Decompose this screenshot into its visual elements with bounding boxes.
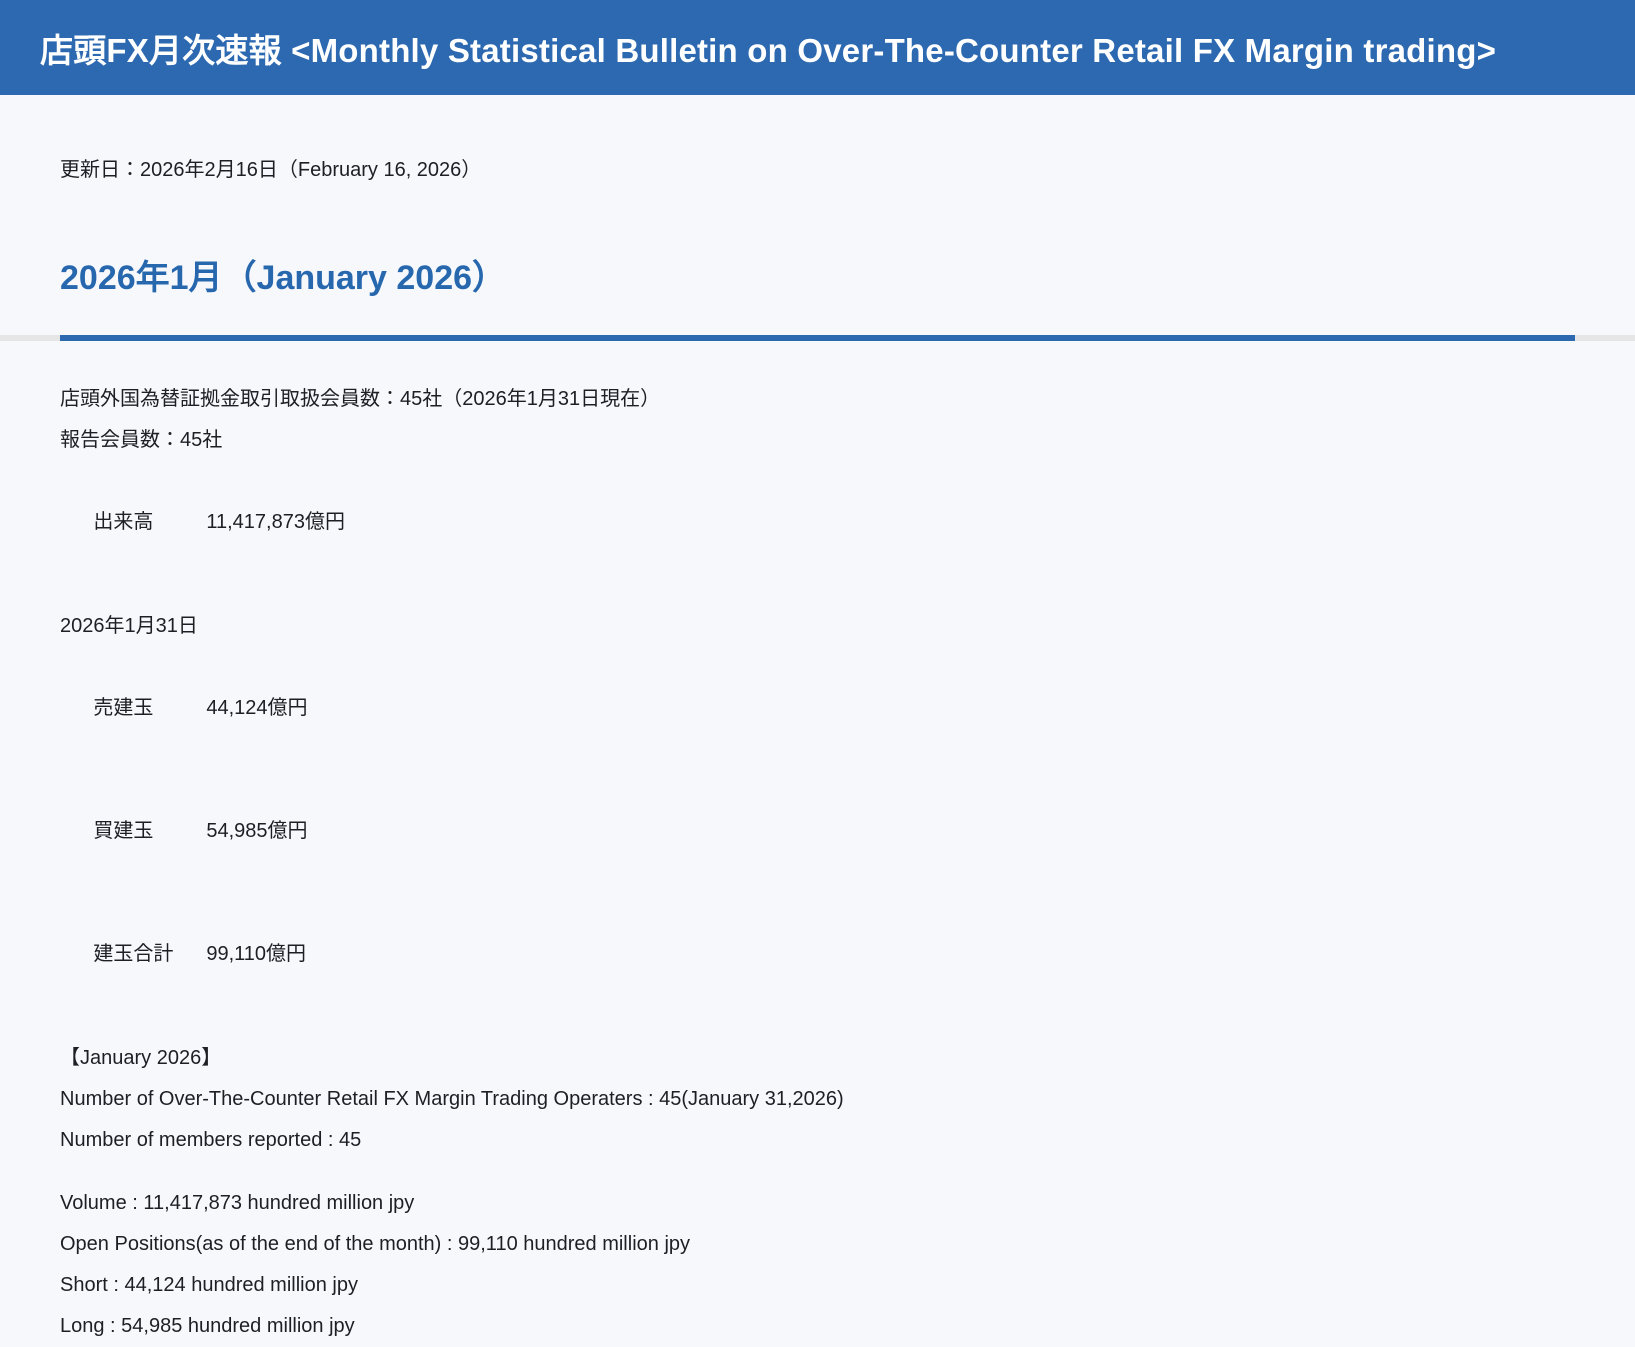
en-month-bracket: 【January 2026】 bbox=[60, 1038, 1575, 1079]
jp-long-label: 買建玉 bbox=[93, 811, 206, 852]
section-heading-block: 2026年1月（January 2026） bbox=[60, 258, 1575, 299]
jp-total-value: 99,110億円 bbox=[206, 943, 306, 965]
page-header: 店頭FX月次速報 <Monthly Statistical Bulletin o… bbox=[0, 0, 1635, 95]
jp-members-reported-line: 報告会員数：45社 bbox=[60, 420, 1575, 461]
page-content: 更新日：2026年2月16日（February 16, 2026） 2026年1… bbox=[0, 95, 1635, 1347]
section-divider-accent bbox=[60, 335, 1575, 341]
english-values-block: Volume : 11,417,873 hundred million jpy … bbox=[60, 1161, 1575, 1347]
en-short-line: Short : 44,124 hundred million jpy bbox=[60, 1265, 1575, 1306]
english-summary-block: 【January 2026】 Number of Over-The-Counte… bbox=[60, 1016, 1575, 1161]
section-divider bbox=[0, 335, 1635, 341]
jp-positions-date: 2026年1月31日 bbox=[60, 606, 1575, 647]
en-operators-line: Number of Over-The-Counter Retail FX Mar… bbox=[60, 1079, 1575, 1120]
en-members-reported-line: Number of members reported : 45 bbox=[60, 1120, 1575, 1161]
jp-total-label: 建玉合計 bbox=[93, 934, 206, 975]
jp-short-label: 売建玉 bbox=[93, 688, 206, 729]
jp-short-line: 売建玉44,124億円 bbox=[60, 647, 1575, 770]
jp-short-value: 44,124億円 bbox=[206, 697, 307, 719]
jp-volume-label: 出来高 bbox=[93, 502, 206, 543]
page-title: 店頭FX月次速報 <Monthly Statistical Bulletin o… bbox=[40, 24, 1496, 72]
section-heading: 2026年1月（January 2026） bbox=[60, 258, 1575, 299]
en-open-positions-line: Open Positions(as of the end of the mont… bbox=[60, 1224, 1575, 1265]
en-long-line: Long : 54,985 hundred million jpy bbox=[60, 1306, 1575, 1347]
en-volume-line: Volume : 11,417,873 hundred million jpy bbox=[60, 1183, 1575, 1224]
updated-date: 更新日：2026年2月16日（February 16, 2026） bbox=[60, 95, 1575, 182]
japanese-positions-block: 2026年1月31日 売建玉44,124億円 買建玉54,985億円 建玉合計9… bbox=[60, 584, 1575, 1016]
jp-volume-line: 出来高11,417,873億円 bbox=[60, 461, 1575, 584]
jp-long-value: 54,985億円 bbox=[206, 820, 307, 842]
jp-long-line: 買建玉54,985億円 bbox=[60, 770, 1575, 893]
jp-volume-value: 11,417,873億円 bbox=[206, 511, 345, 533]
jp-operators-line: 店頭外国為替証拠金取引取扱会員数：45社（2026年1月31日現在） bbox=[60, 379, 1575, 420]
jp-total-line: 建玉合計99,110億円 bbox=[60, 893, 1575, 1016]
japanese-summary-block: 店頭外国為替証拠金取引取扱会員数：45社（2026年1月31日現在） 報告会員数… bbox=[60, 341, 1575, 584]
